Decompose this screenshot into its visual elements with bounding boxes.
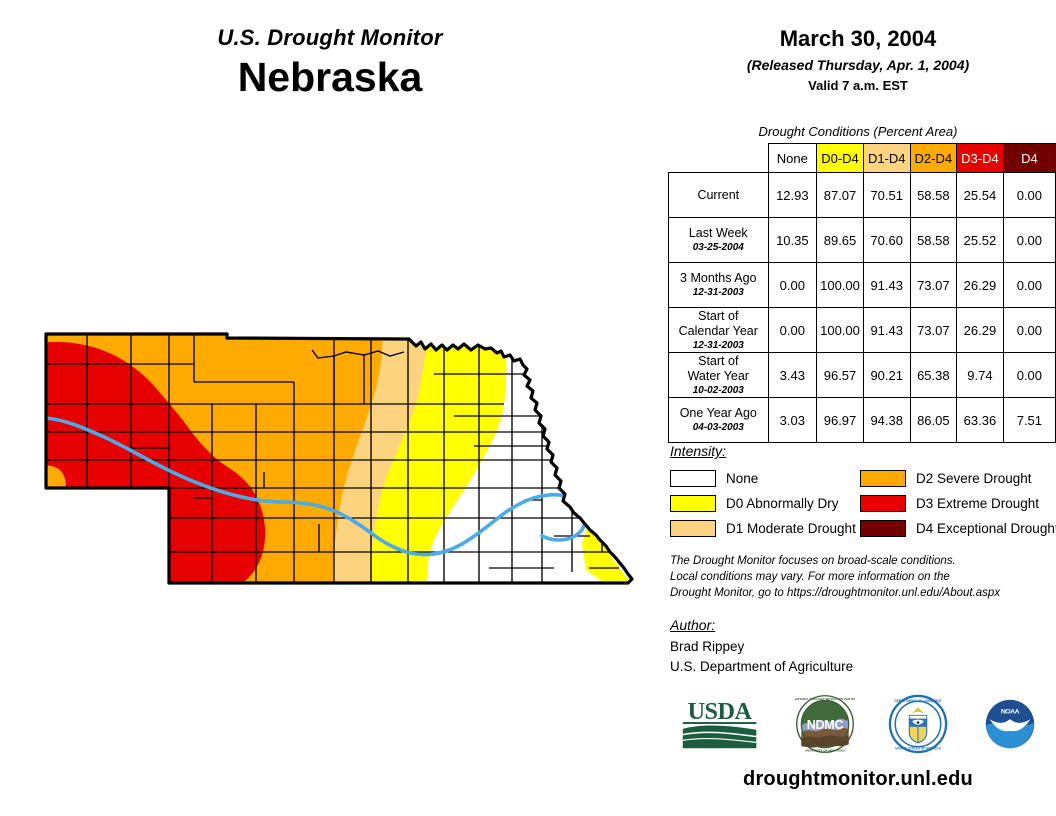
nebraska-drought-map: [34, 312, 644, 612]
cell-none: 10.35: [768, 218, 817, 263]
legend-row: NoneD2 Severe Drought: [670, 466, 1050, 491]
legend-row: D0 Abnormally DryD3 Extreme Drought: [670, 491, 1050, 516]
row-label: Start ofCalendar Year12-31-2003: [669, 308, 769, 353]
valid-date: March 30, 2004: [660, 26, 1056, 52]
row-label-text: 3 Months Ago: [680, 271, 756, 285]
svg-text:NATIONAL DROUGHT MITIGATION CE: NATIONAL DROUGHT MITIGATION CENTER: [795, 697, 855, 701]
released-date: (Released Thursday, Apr. 1, 2004): [660, 55, 1056, 76]
legend-label: D1 Moderate Drought: [726, 521, 856, 536]
release-header: March 30, 2004 (Released Thursday, Apr. …: [660, 26, 1056, 96]
table-row: Last Week03-25-200410.3589.6570.6058.582…: [669, 218, 1056, 263]
cell-d1-d4: 91.43: [863, 308, 910, 353]
row-label-date: 03-25-2004: [669, 242, 768, 254]
usda-logo: USDA: [676, 694, 763, 754]
ndmc-logo: NDMC NATIONAL DROUGHT MITIGATION CENTER …: [795, 694, 855, 754]
row-label-text: One Year Ago: [680, 406, 757, 420]
cell-none: 12.93: [768, 173, 817, 218]
legend-label: D0 Abnormally Dry: [726, 496, 839, 511]
col-header-d3-d4: D3-D4: [957, 144, 1004, 173]
legend-swatch-icon: [860, 495, 906, 512]
legend-swatch-icon: [670, 495, 716, 512]
usdc-logo: DEPARTMENT OF COMMERCE UNITED STATES OF …: [888, 694, 948, 754]
table-row: One Year Ago04-03-20033.0396.9794.3886.0…: [669, 398, 1056, 443]
legend-item: D2 Severe Drought: [860, 470, 1050, 487]
cell-none: 3.03: [768, 398, 817, 443]
author-heading: Author:: [670, 617, 715, 633]
cell-d3-d4: 63.36: [957, 398, 1004, 443]
cell-d2-d4: 58.58: [910, 218, 957, 263]
cell-none: 0.00: [768, 308, 817, 353]
legend-label: D2 Severe Drought: [916, 471, 1032, 486]
cell-none: 0.00: [768, 263, 817, 308]
program-title: U.S. Drought Monitor: [0, 26, 660, 50]
legend-swatch-icon: [860, 520, 906, 537]
row-label-date: 12-31-2003: [669, 287, 768, 299]
cell-d4: 0.00: [1003, 308, 1055, 353]
table-body: Current12.9387.0770.5158.5825.540.00Last…: [669, 173, 1056, 443]
legend-item: D4 Exceptional Drought: [860, 520, 1050, 537]
intensity-heading: Intensity:: [670, 443, 726, 459]
disclaimer-line-2: Local conditions may vary. For more info…: [670, 570, 1050, 586]
disclaimer-line-1: The Drought Monitor focuses on broad-sca…: [670, 554, 1050, 570]
legend-item: D1 Moderate Drought: [670, 520, 860, 537]
legend-swatch-icon: [670, 470, 716, 487]
legend-item: D3 Extreme Drought: [860, 495, 1050, 512]
cell-d3-d4: 26.29: [957, 308, 1004, 353]
cell-d2-d4: 65.38: [910, 353, 957, 398]
row-label: 3 Months Ago12-31-2003: [669, 263, 769, 308]
author-block: Brad Rippey U.S. Department of Agricultu…: [670, 637, 853, 678]
svg-text:NOAA: NOAA: [1001, 709, 1020, 716]
cell-d0-d4: 96.97: [817, 398, 864, 443]
svg-text:DEPARTMENT OF COMMERCE: DEPARTMENT OF COMMERCE: [894, 699, 941, 703]
legend-label: D4 Exceptional Drought: [916, 521, 1056, 536]
legend-label: D3 Extreme Drought: [916, 496, 1039, 511]
cell-d3-d4: 26.29: [957, 263, 1004, 308]
cell-d4: 0.00: [1003, 353, 1055, 398]
svg-text:UNITED STATES OF AMERICA: UNITED STATES OF AMERICA: [895, 747, 942, 751]
cell-d2-d4: 73.07: [910, 308, 957, 353]
legend-swatch-icon: [670, 520, 716, 537]
author-name: Brad Rippey: [670, 637, 853, 657]
row-label-text: Start ofCalendar Year: [679, 309, 758, 338]
legend-item: D0 Abnormally Dry: [670, 495, 860, 512]
cell-d0-d4: 89.65: [817, 218, 864, 263]
legend-swatch-icon: [860, 470, 906, 487]
table-row: Current12.9387.0770.5158.5825.540.00: [669, 173, 1056, 218]
table-caption: Drought Conditions (Percent Area): [660, 124, 1056, 139]
cell-d0-d4: 100.00: [817, 263, 864, 308]
author-org: U.S. Department of Agriculture: [670, 657, 853, 677]
legend-label: None: [726, 471, 758, 486]
cell-d3-d4: 25.52: [957, 218, 1004, 263]
table-corner-cell: [669, 144, 769, 173]
noaa-logo: NOAA: [980, 694, 1040, 754]
cell-d4: 0.00: [1003, 218, 1055, 263]
row-label: Last Week03-25-2004: [669, 218, 769, 263]
row-label-date: 04-03-2003: [669, 422, 768, 434]
table-header-row: None D0-D4 D1-D4 D2-D4 D3-D4 D4: [669, 144, 1056, 173]
cell-d4: 0.00: [1003, 173, 1055, 218]
cell-d4: 0.00: [1003, 263, 1055, 308]
col-header-d4: D4: [1003, 144, 1055, 173]
cell-none: 3.43: [768, 353, 817, 398]
col-header-d1-d4: D1-D4: [863, 144, 910, 173]
cell-d4: 7.51: [1003, 398, 1055, 443]
row-label-text: Current: [697, 188, 739, 202]
cell-d1-d4: 70.51: [863, 173, 910, 218]
fill-d1-panhandle-top: [120, 312, 162, 322]
row-label: Current: [669, 173, 769, 218]
row-label-date: 12-31-2003: [669, 340, 768, 352]
cell-d2-d4: 86.05: [910, 398, 957, 443]
col-header-d0-d4: D0-D4: [817, 144, 864, 173]
intensity-legend: NoneD2 Severe DroughtD0 Abnormally DryD3…: [670, 466, 1050, 541]
row-label-text: Last Week: [689, 226, 748, 240]
cell-d3-d4: 25.54: [957, 173, 1004, 218]
cell-d1-d4: 91.43: [863, 263, 910, 308]
map-title-block: U.S. Drought Monitor Nebraska: [0, 26, 660, 101]
legend-item: None: [670, 470, 860, 487]
disclaimer: The Drought Monitor focuses on broad-sca…: [670, 554, 1050, 602]
row-label-text: Start ofWater Year: [688, 354, 749, 383]
table-row: Start ofWater Year10-02-20033.4396.5790.…: [669, 353, 1056, 398]
legend-row: D1 Moderate DroughtD4 Exceptional Drough…: [670, 516, 1050, 541]
cell-d1-d4: 90.21: [863, 353, 910, 398]
cell-d2-d4: 73.07: [910, 263, 957, 308]
cell-d0-d4: 100.00: [817, 308, 864, 353]
disclaimer-line-3: Drought Monitor, go to https://droughtmo…: [670, 586, 1050, 602]
cell-d3-d4: 9.74: [957, 353, 1004, 398]
svg-text:USDA: USDA: [688, 698, 753, 725]
logo-strip: USDA NDMC NATIONAL DROUGHT MITIGATION CE…: [660, 692, 1056, 756]
svg-text:UNIVERSITY OF NEBRASKA: UNIVERSITY OF NEBRASKA: [805, 748, 846, 752]
valid-time: Valid 7 a.m. EST: [660, 77, 1056, 95]
table-row: 3 Months Ago12-31-20030.00100.0091.4373.…: [669, 263, 1056, 308]
website-url: droughtmonitor.unl.edu: [660, 768, 1056, 791]
table-row: Start ofCalendar Year12-31-20030.00100.0…: [669, 308, 1056, 353]
cell-d2-d4: 58.58: [910, 173, 957, 218]
cell-d1-d4: 70.60: [863, 218, 910, 263]
cell-d1-d4: 94.38: [863, 398, 910, 443]
cell-d0-d4: 87.07: [817, 173, 864, 218]
row-label: One Year Ago04-03-2003: [669, 398, 769, 443]
col-header-none: None: [768, 144, 817, 173]
row-label: Start ofWater Year10-02-2003: [669, 353, 769, 398]
col-header-d2-d4: D2-D4: [910, 144, 957, 173]
cell-d0-d4: 96.57: [817, 353, 864, 398]
drought-conditions-table: None D0-D4 D1-D4 D2-D4 D3-D4 D4 Current1…: [668, 143, 1056, 443]
row-label-date: 10-02-2003: [669, 385, 768, 397]
svg-text:NDMC: NDMC: [807, 718, 844, 732]
region-title: Nebraska: [0, 54, 660, 101]
